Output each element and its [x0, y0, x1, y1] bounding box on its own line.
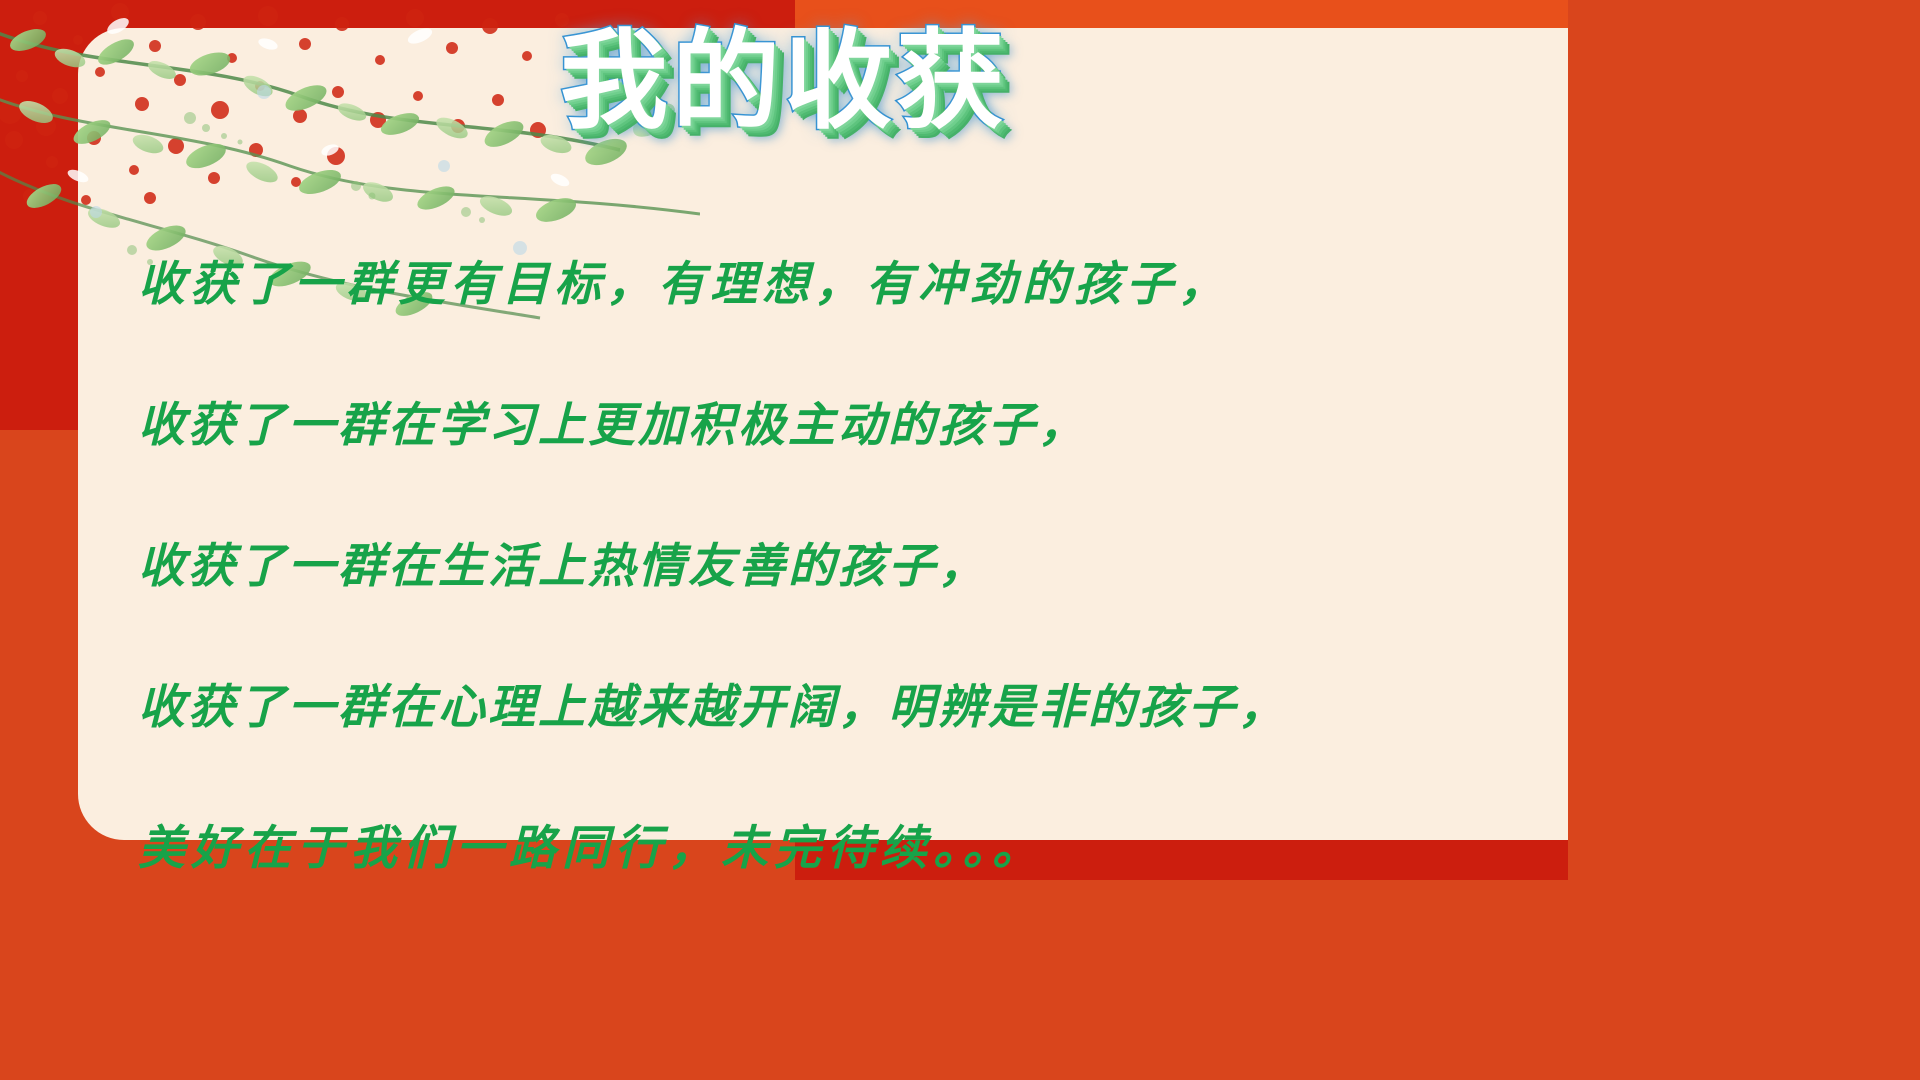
body-line-5: 美好在于我们一路同行，未完待续。。。 [138, 778, 1478, 880]
body-line-4: 收获了一群在心理上越来越开阔，明辨是非的孩子， [138, 637, 1478, 778]
body-line-3: 收获了一群在生活上热情友善的孩子， [138, 496, 1478, 637]
body-line-1: 收获了一群更有目标，有理想，有冲劲的孩子， [138, 214, 1478, 355]
background-left-orange-strip [0, 430, 80, 880]
slide-body: 收获了一群更有目标，有理想，有冲劲的孩子， 收获了一群在学习上更加积极主动的孩子… [138, 214, 1478, 880]
slide-root: 我的收获 收获了一群更有目标，有理想，有冲劲的孩子， 收获了一群在学习上更加积极… [0, 0, 1568, 880]
body-line-2: 收获了一群在学习上更加积极主动的孩子， [138, 355, 1478, 496]
